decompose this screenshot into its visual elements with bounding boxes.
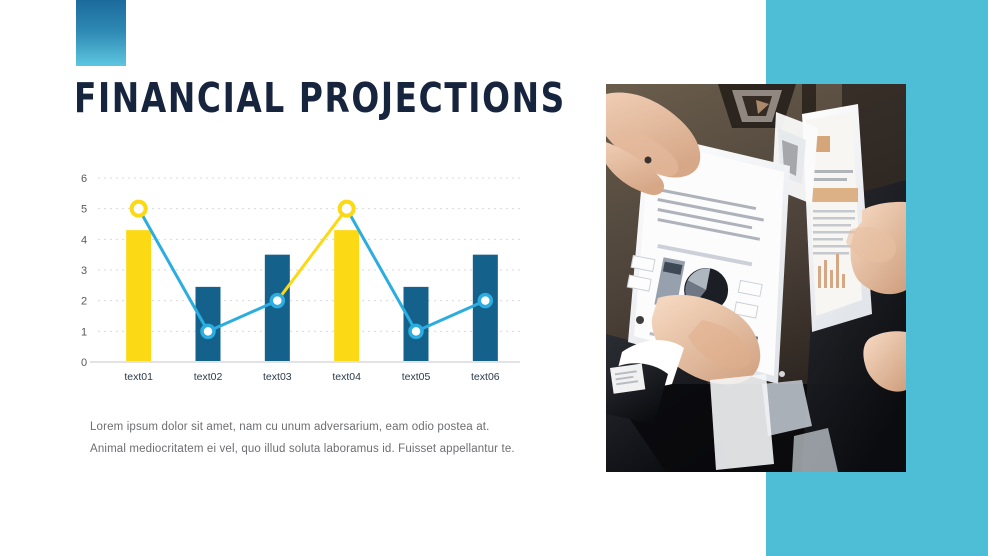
chart-gridlines: [98, 178, 520, 331]
chart-bar: [126, 230, 151, 362]
chart-x-axis-labels: text01text02text03text04text05text06: [124, 371, 499, 383]
y-axis-tick-label: 4: [81, 234, 87, 246]
chart-line-markers: [132, 202, 492, 338]
page-title: FINANCIAL PROJECTIONS: [74, 76, 566, 120]
y-axis-tick-label: 5: [81, 204, 87, 216]
business-photo-illustration: [606, 84, 906, 472]
chart-line-series: [139, 209, 486, 332]
business-photo: [606, 84, 906, 472]
y-axis-tick-label: 6: [81, 173, 87, 185]
chart-marker: [271, 295, 283, 307]
x-axis-tick-label: text06: [471, 371, 500, 383]
chart-y-axis-labels: 0123456: [81, 173, 87, 369]
body-paragraph: Lorem ipsum dolor sit amet, nam cu unum …: [90, 416, 522, 460]
x-axis-tick-label: text05: [402, 371, 431, 383]
chart-marker: [479, 295, 491, 307]
accent-gradient-bar: [76, 0, 126, 66]
chart-marker: [410, 325, 422, 337]
chart-marker-highlight: [132, 202, 146, 216]
x-axis-tick-label: text02: [194, 371, 223, 383]
financial-projections-chart: 0123456 text01text02text03text04text05te…: [68, 170, 520, 390]
y-axis-tick-label: 3: [81, 265, 87, 277]
x-axis-tick-label: text01: [124, 371, 153, 383]
chart-bars: [126, 230, 498, 362]
y-axis-tick-label: 0: [81, 357, 87, 369]
chart-marker: [202, 325, 214, 337]
chart-bar: [334, 230, 359, 362]
chart-svg: 0123456 text01text02text03text04text05te…: [68, 170, 520, 390]
slide-root: FINANCIAL PROJECTIONS 0123456 text01text…: [0, 0, 988, 556]
x-axis-tick-label: text04: [332, 371, 361, 383]
x-axis-tick-label: text03: [263, 371, 292, 383]
y-axis-tick-label: 2: [81, 296, 87, 308]
y-axis-tick-label: 1: [81, 326, 87, 338]
chart-marker-highlight: [340, 202, 354, 216]
